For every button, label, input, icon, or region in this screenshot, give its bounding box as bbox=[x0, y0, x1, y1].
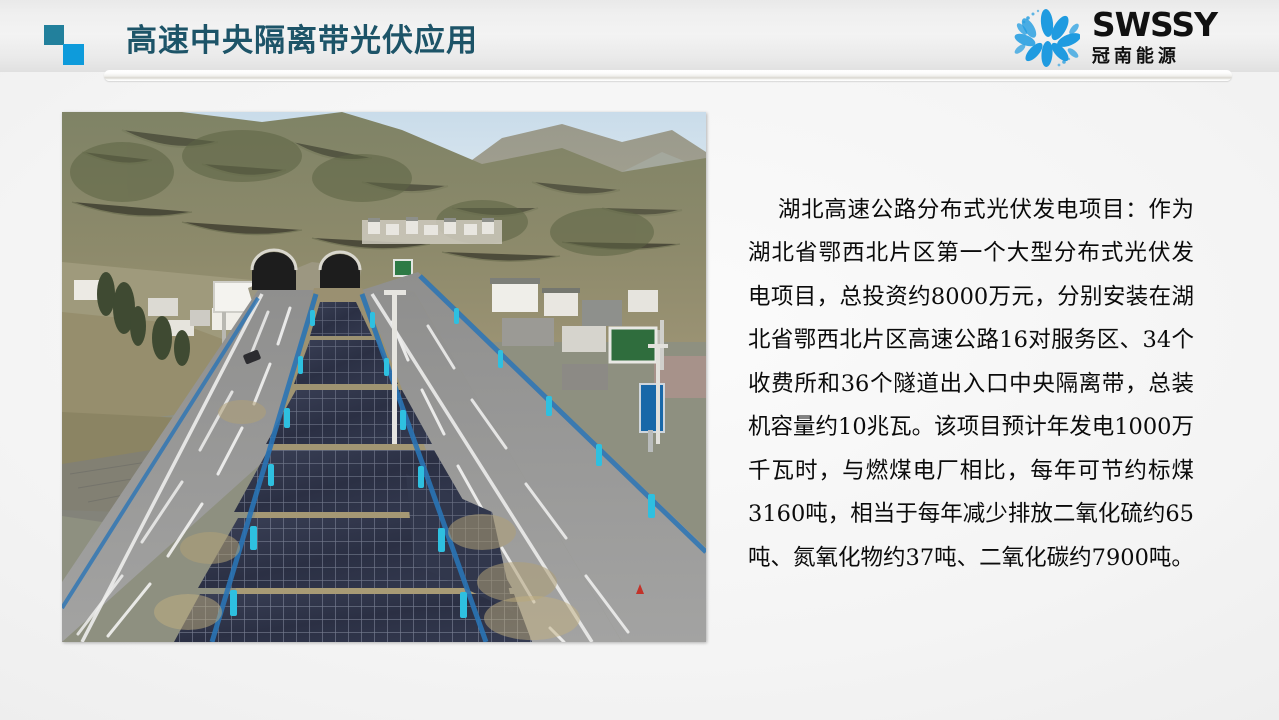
presentation-slide: 高速中央隔离带光伏应用 bbox=[0, 0, 1279, 720]
photo-illustration bbox=[62, 112, 706, 642]
body-paragraph: 湖北高速公路分布式光伏发电项目：作为湖北省鄂西北片区第一个大型分布式光伏发电项目… bbox=[748, 189, 1194, 581]
slide-photo bbox=[62, 112, 706, 642]
company-logo: SWSSY 冠南能源 bbox=[1014, 6, 1217, 70]
decor-square-light-icon bbox=[63, 44, 84, 65]
header-divider-bar bbox=[104, 70, 1232, 81]
decor-square-dark-icon bbox=[44, 25, 64, 45]
logo-text-group: SWSSY 冠南能源 bbox=[1092, 9, 1217, 68]
page-title: 高速中央隔离带光伏应用 bbox=[126, 20, 478, 62]
slide-header: 高速中央隔离带光伏应用 bbox=[0, 0, 1279, 72]
petal-burst-emblem-icon bbox=[1014, 7, 1080, 69]
logo-wordmark: SWSSY bbox=[1092, 9, 1217, 41]
logo-subtitle: 冠南能源 bbox=[1092, 44, 1180, 68]
header-decor-squares bbox=[44, 25, 90, 65]
